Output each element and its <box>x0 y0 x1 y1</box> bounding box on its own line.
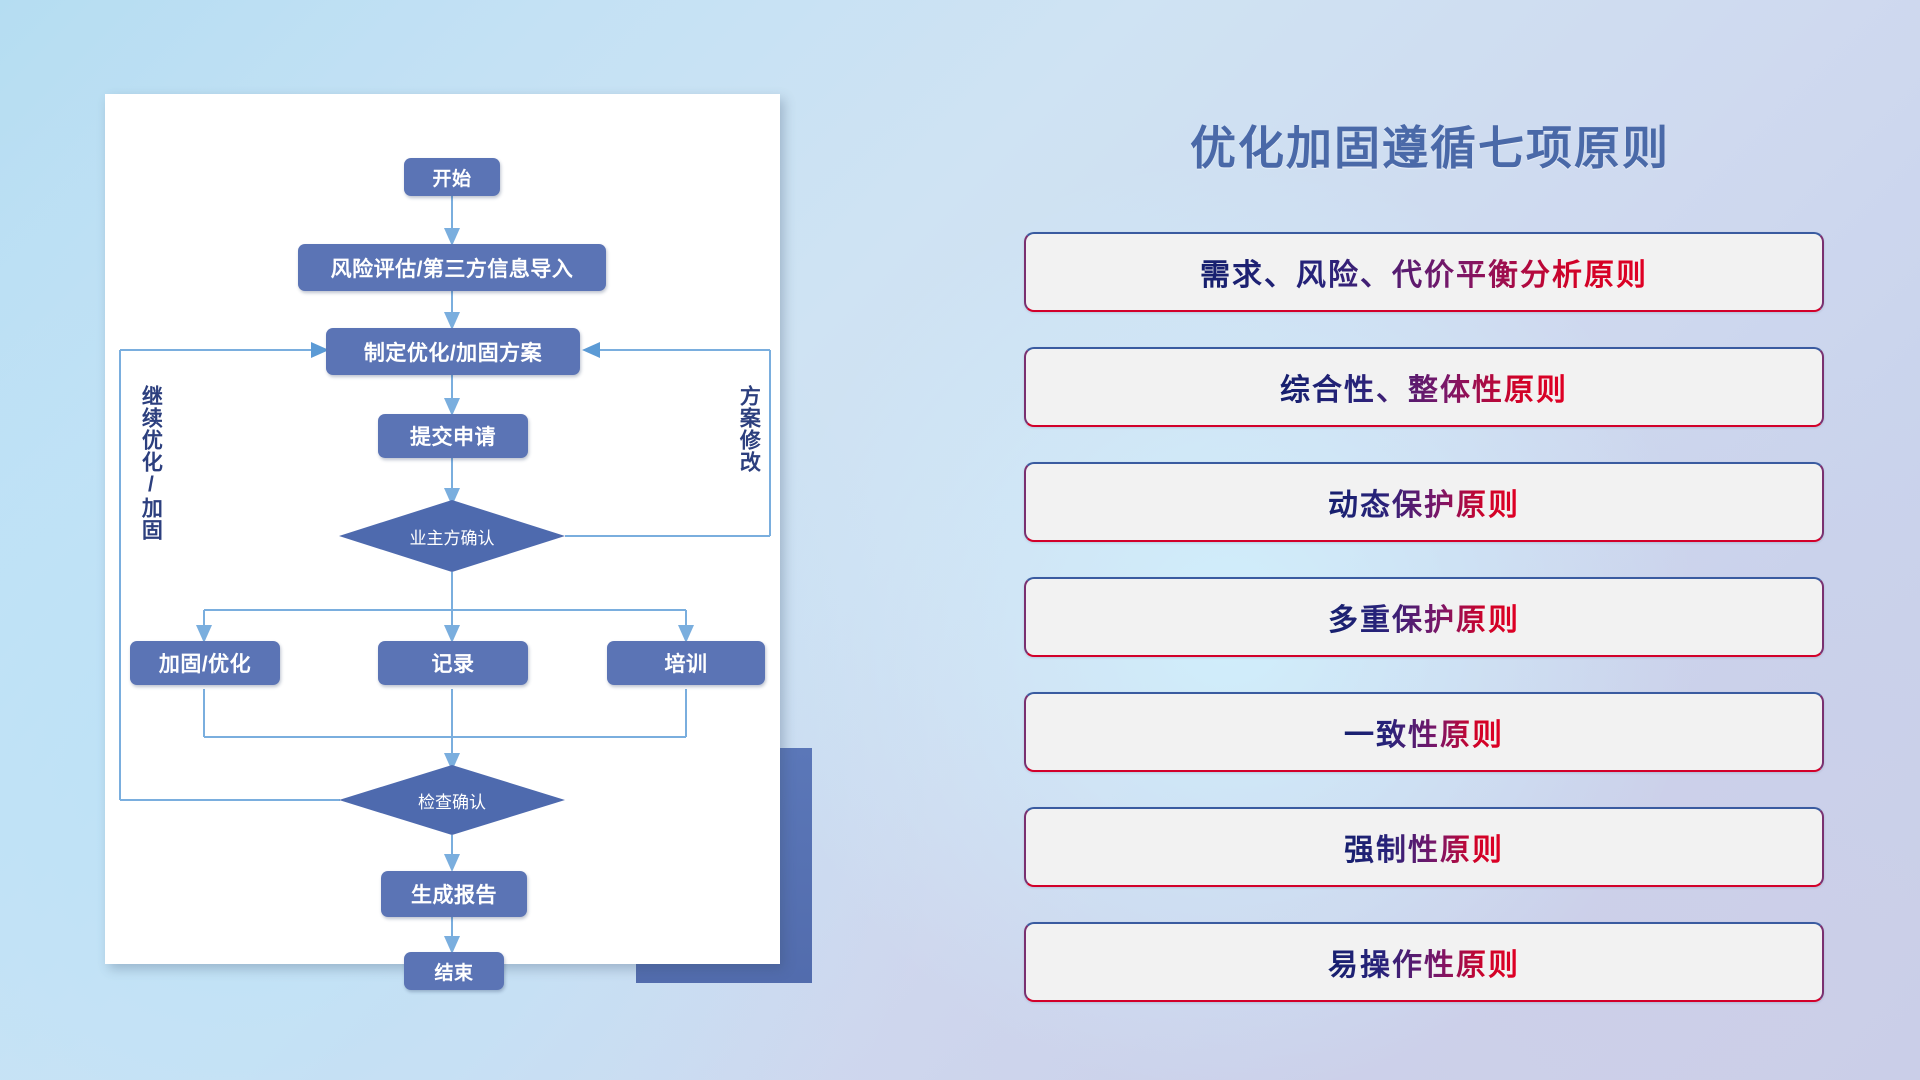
principle-label: 多重保护原则 <box>1328 595 1520 639</box>
principle-item[interactable]: 一致性原则 <box>1024 692 1824 772</box>
flow-node-start[interactable]: 开始 <box>404 158 500 196</box>
flow-node-generate-report[interactable]: 生成报告 <box>381 871 527 917</box>
flow-node-training[interactable]: 培训 <box>607 641 765 685</box>
principle-label: 易操作性原则 <box>1328 940 1520 984</box>
flow-node-owner-confirmation[interactable]: 业主方确认 <box>339 500 565 572</box>
principle-item[interactable]: 综合性、整体性原则 <box>1024 347 1824 427</box>
principles-list: 需求、风险、代价平衡分析原则 综合性、整体性原则 动态保护原则 多重保护原则 一… <box>1024 232 1824 1037</box>
flow-node-submit-application[interactable]: 提交申请 <box>378 414 528 458</box>
principle-label: 强制性原则 <box>1344 825 1504 869</box>
flow-node-label: 记录 <box>432 648 475 678</box>
principle-item[interactable]: 强制性原则 <box>1024 807 1824 887</box>
flow-node-label: 提交申请 <box>410 421 496 451</box>
principles-panel: 优化加固遵循七项原则 需求、风险、代价平衡分析原则 综合性、整体性原则 动态保护… <box>1000 0 1920 1080</box>
page-title: 优化加固遵循七项原则 <box>1000 112 1860 178</box>
flow-node-record[interactable]: 记录 <box>378 641 528 685</box>
principle-label: 需求、风险、代价平衡分析原则 <box>1200 250 1648 294</box>
flow-node-end[interactable]: 结束 <box>404 952 504 990</box>
principle-item[interactable]: 多重保护原则 <box>1024 577 1824 657</box>
principle-label: 动态保护原则 <box>1328 480 1520 524</box>
principle-item[interactable]: 需求、风险、代价平衡分析原则 <box>1024 232 1824 312</box>
flow-node-reinforce[interactable]: 加固/优化 <box>130 641 280 685</box>
principle-item[interactable]: 易操作性原则 <box>1024 922 1824 1002</box>
flow-node-label: 开始 <box>432 164 471 191</box>
flow-node-inspection-confirmation[interactable]: 检查确认 <box>339 765 565 835</box>
edge-label-plan-revision: 方案修改 <box>738 385 759 473</box>
principle-label: 综合性、整体性原则 <box>1280 365 1568 409</box>
flow-node-label: 风险评估/第三方信息导入 <box>331 253 574 283</box>
flow-node-label: 培训 <box>665 648 708 678</box>
flow-node-label: 结束 <box>434 958 473 985</box>
flow-node-label: 检查确认 <box>418 788 486 813</box>
flow-node-label: 制定优化/加固方案 <box>364 337 542 367</box>
flow-node-label: 业主方确认 <box>410 524 495 549</box>
edge-label-continue-optimization: 继续优化/加固 <box>140 385 161 541</box>
flow-node-label: 加固/优化 <box>159 648 251 678</box>
flowchart-panel: 开始 风险评估/第三方信息导入 制定优化/加固方案 提交申请 业主方确认 加固/… <box>0 0 860 1080</box>
flow-node-risk-assessment[interactable]: 风险评估/第三方信息导入 <box>298 244 606 291</box>
principle-label: 一致性原则 <box>1344 710 1504 754</box>
flow-node-label: 生成报告 <box>411 879 497 909</box>
principle-item[interactable]: 动态保护原则 <box>1024 462 1824 542</box>
flow-node-plan[interactable]: 制定优化/加固方案 <box>326 328 580 375</box>
